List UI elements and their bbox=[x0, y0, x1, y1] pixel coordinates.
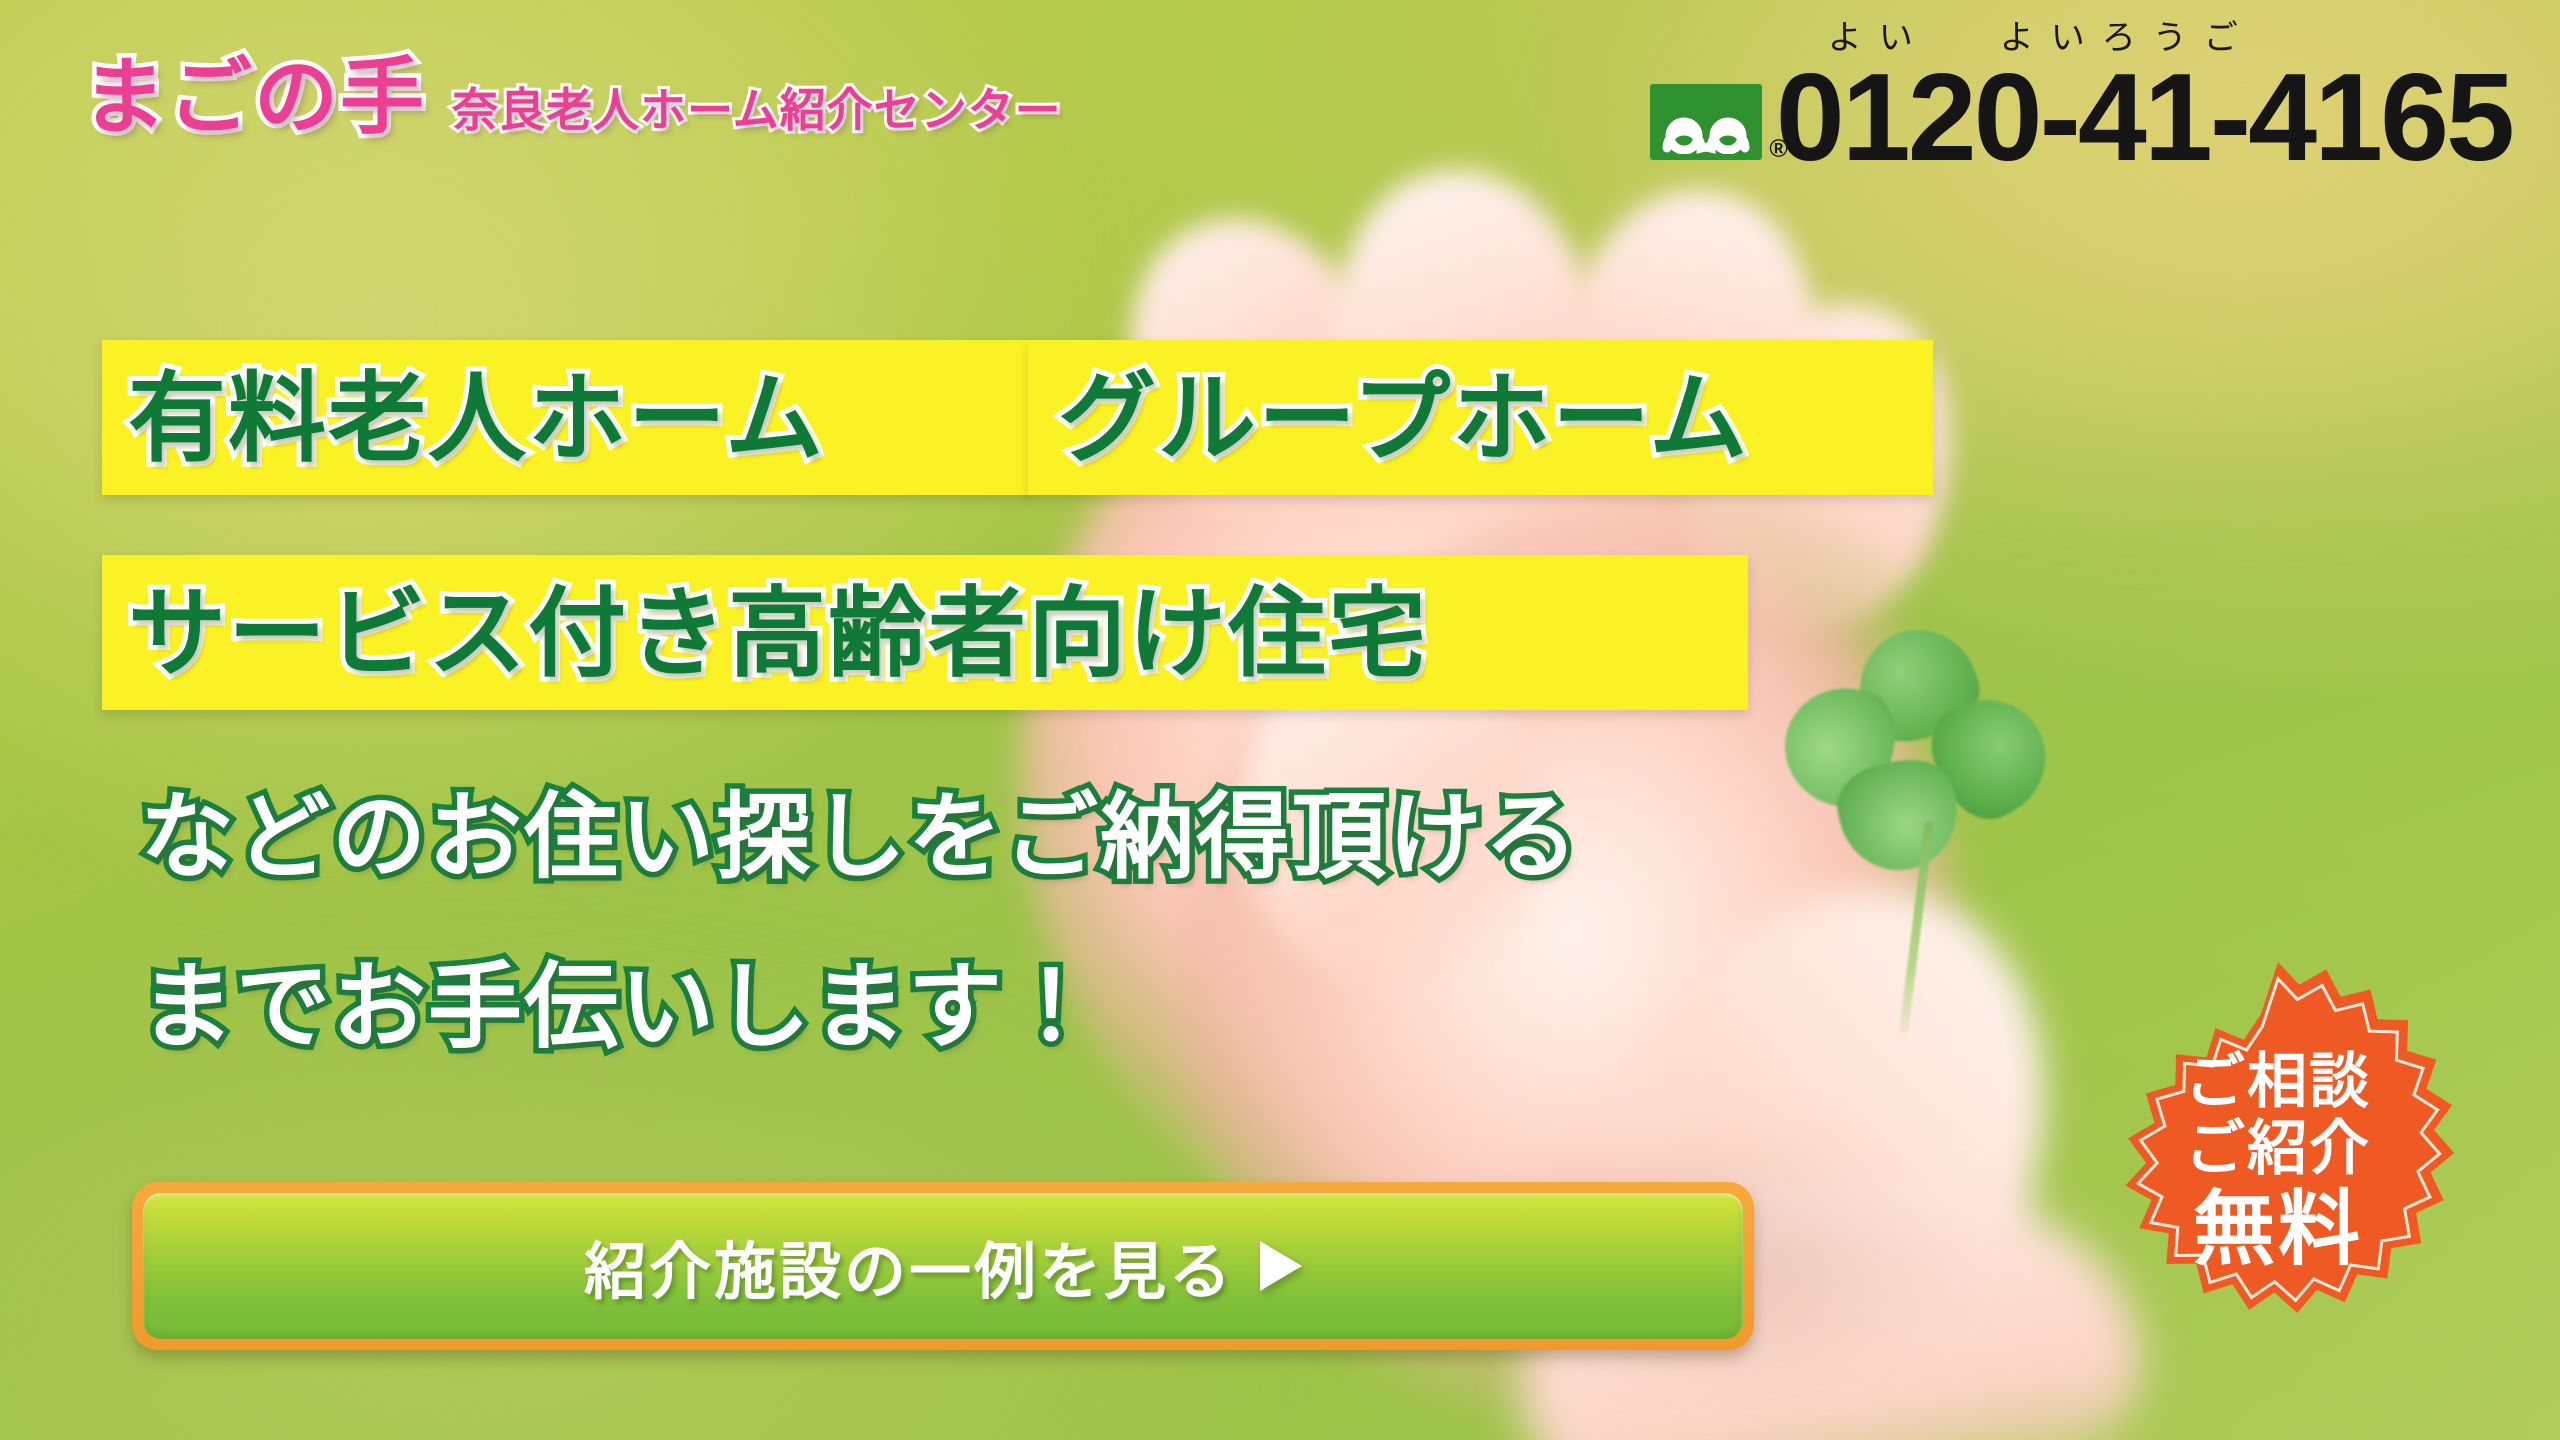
hero-banner: まごの手 奈良老人ホーム紹介センター ® よい よいろうご 0120-41-41… bbox=[0, 0, 2560, 1440]
phone-block[interactable]: ® よい よいろうご 0120-41-4165 bbox=[1650, 18, 2512, 178]
highlight-label: 有料老人ホーム bbox=[128, 369, 825, 467]
highlight-label: サービス付き高齢者向け住宅 bbox=[128, 584, 1428, 682]
freedial-icon: ® bbox=[1650, 84, 1762, 160]
play-triangle-icon bbox=[1260, 1241, 1302, 1291]
highlight-label: グループホーム bbox=[1058, 369, 1749, 467]
brand-logo[interactable]: まごの手 奈良老人ホーム紹介センター bbox=[82, 55, 1062, 139]
cta-inner-surface: 紹介施設の一例を見る bbox=[143, 1193, 1743, 1339]
hero-copy-line-2: までお手伝いします！ bbox=[140, 960, 1100, 1054]
four-leaf-clover-icon bbox=[1780, 630, 2080, 1070]
free-consultation-badge[interactable]: ご相談 ご紹介 無料 bbox=[2078, 962, 2478, 1362]
highlight-box-group-home: グループホーム bbox=[1028, 340, 1933, 495]
highlight-box-paid-nursing-home: 有料老人ホーム bbox=[102, 340, 1033, 495]
logo-text: まごの手 bbox=[82, 55, 426, 139]
view-facilities-button[interactable]: 紹介施設の一例を見る bbox=[132, 1182, 1754, 1350]
site-header: まごの手 奈良老人ホーム紹介センター ® よい よいろうご 0120-41-41… bbox=[0, 0, 2560, 190]
hero-copy-line-1: などのお住い探しをご納得頂ける bbox=[140, 790, 1580, 884]
brand-tagline: 奈良老人ホーム紹介センター bbox=[452, 87, 1062, 139]
registered-mark: ® bbox=[1769, 135, 1787, 164]
phone-number[interactable]: 0120-41-4165 bbox=[1776, 60, 2512, 178]
highlight-box-senior-housing: サービス付き高齢者向け住宅 bbox=[102, 555, 1748, 710]
cta-label: 紹介施設の一例を見る bbox=[584, 1221, 1234, 1311]
